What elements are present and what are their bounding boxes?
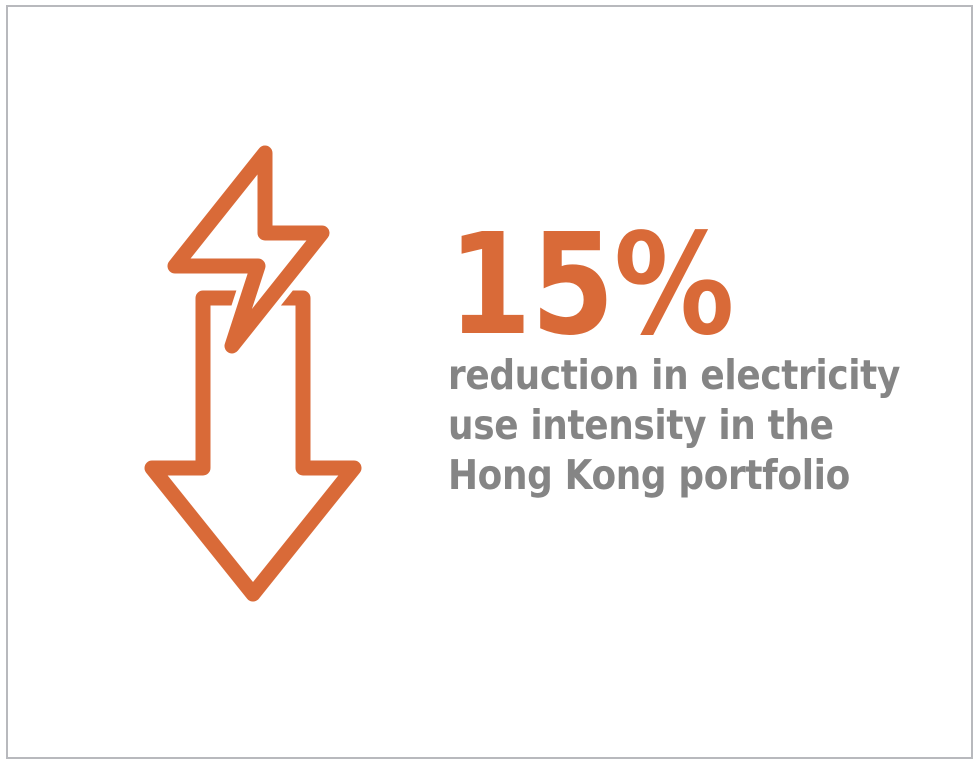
stat-caption: reduction in electricity use intensity i…: [448, 350, 859, 500]
stat-caption-line-1: reduction in electricity: [448, 350, 859, 400]
stat-block: 15% reduction in electricity use intensi…: [448, 222, 918, 500]
stat-caption-line-3: Hong Kong portfolio: [448, 450, 859, 500]
stat-caption-line-2: use intensity in the: [448, 400, 859, 450]
electricity-reduction-icon-svg: [140, 138, 376, 608]
card-content: 15% reduction in electricity use intensi…: [0, 0, 980, 772]
infographic-card: 15% reduction in electricity use intensi…: [0, 0, 980, 772]
down-arrow-outline: [152, 298, 354, 594]
electricity-reduction-icon: [140, 138, 376, 608]
stat-value: 15%: [448, 222, 852, 350]
